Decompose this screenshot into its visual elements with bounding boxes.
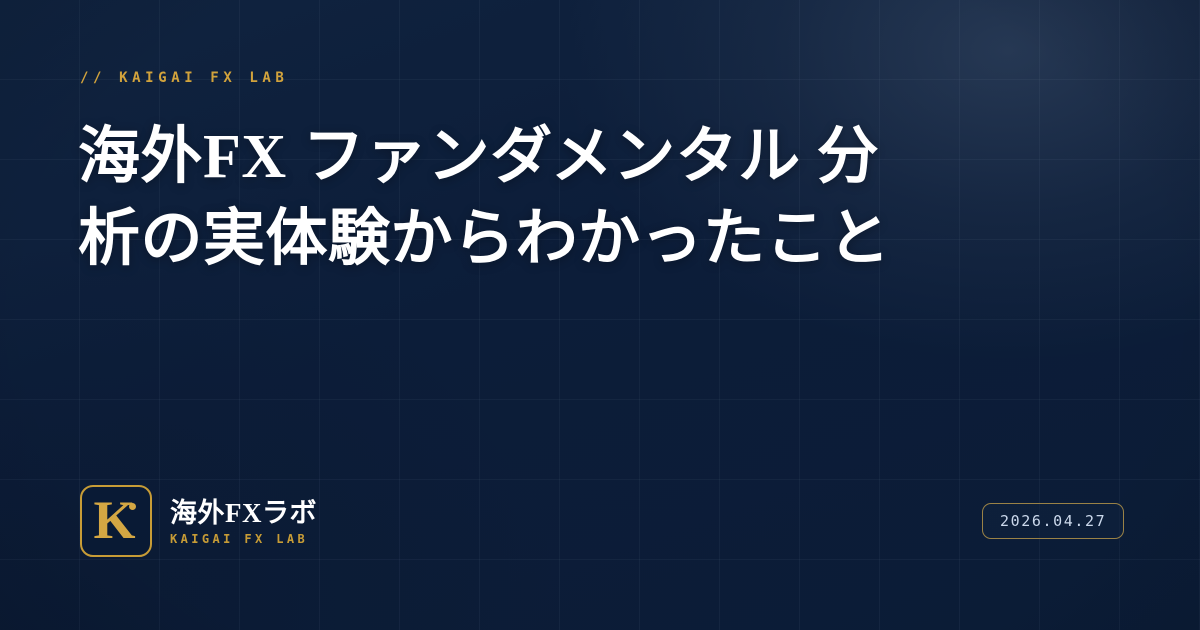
page-title-line-2: 析の実体験からわかったこと	[78, 198, 958, 280]
brand-logo-letter: K	[93, 493, 135, 547]
eyebrow-label: // KAIGAI FX LAB	[80, 70, 288, 86]
brand-subtitle: KAIGAI FX LAB	[170, 532, 317, 546]
brand-text-block: 海外FXラボ KAIGAI FX LAB	[170, 497, 317, 546]
page-title: 海外FX ファンダメンタル 分 析の実体験からわかったこと	[78, 116, 958, 280]
og-card: // KAIGAI FX LAB 海外FX ファンダメンタル 分 析の実体験から…	[0, 0, 1200, 630]
brand-logo-mark: K	[80, 485, 152, 557]
brand-logo-dot-icon	[129, 503, 136, 510]
card-content: // KAIGAI FX LAB 海外FX ファンダメンタル 分 析の実体験から…	[0, 0, 1200, 630]
page-title-line-1: 海外FX ファンダメンタル 分	[78, 116, 958, 198]
publish-date-badge: 2026.04.27	[982, 503, 1124, 539]
brand-lockup: K 海外FXラボ KAIGAI FX LAB	[80, 485, 317, 557]
brand-name: 海外FXラボ	[170, 497, 317, 529]
